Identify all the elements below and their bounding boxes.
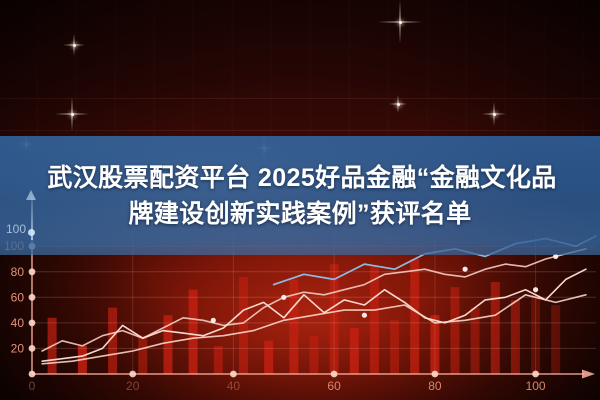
stock-chart-svg: 20406080100020406080100: [0, 232, 600, 400]
y-tick-label: 40: [11, 316, 25, 330]
x-axis-arrow: [582, 370, 595, 379]
x-tick-label: 0: [29, 379, 36, 393]
y-axis-arrow: [26, 190, 36, 200]
y-tick-label: 60: [11, 290, 25, 304]
marker-2: [281, 295, 286, 300]
y-tick-label-100: 100: [2, 222, 26, 236]
marker-4: [463, 267, 468, 272]
x-tick-label: 60: [327, 379, 341, 393]
y-tick-label: 20: [11, 341, 25, 355]
x-tick-label: 20: [126, 379, 140, 393]
y-tick-label: 80: [11, 265, 25, 279]
x-tick-label: 100: [526, 379, 546, 393]
marker-1: [211, 318, 216, 323]
marker-3: [362, 313, 367, 318]
banner-image: 20406080100020406080100 武汉股票配资平台 2025好品金…: [0, 0, 600, 400]
x-tick-label: 40: [227, 379, 241, 393]
y-tick-dot-100: [28, 229, 35, 236]
banner-title: 武汉股票配资平台 2025好品金融“金融文化品 牌建设创新实践案例”获评名单: [0, 136, 600, 255]
banner-title-line-1: 武汉股票配资平台 2025好品金融“金融文化品: [43, 161, 556, 195]
stock-chart: 20406080100020406080100: [0, 232, 600, 400]
x-tick-label: 80: [428, 379, 442, 393]
banner-title-line-2: 牌建设创新实践案例”获评名单: [128, 197, 471, 231]
series-a: [42, 249, 586, 351]
